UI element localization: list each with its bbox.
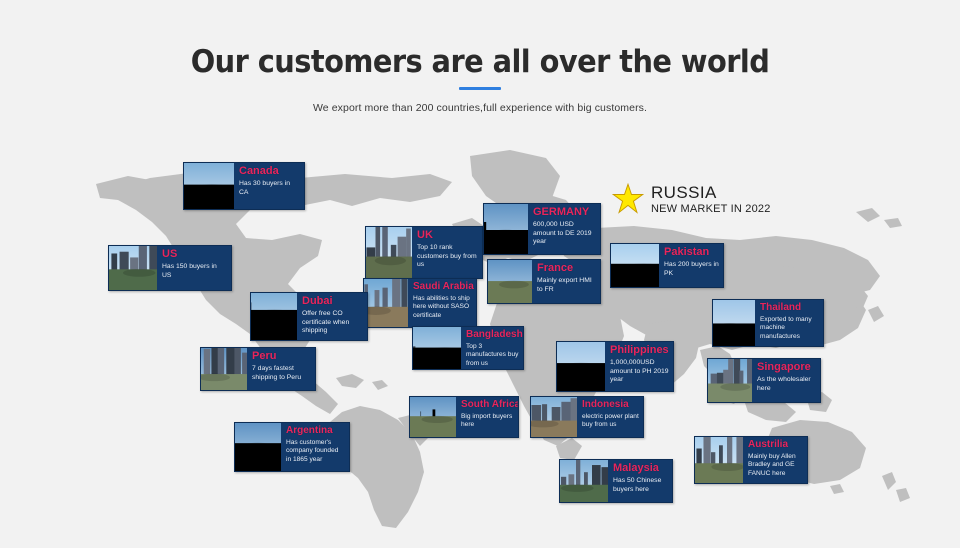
card-description: Big import buyers here: [461, 413, 514, 430]
country-card-germany[interactable]: GERMANY600,000 USD amount to DE 2019 yea…: [483, 203, 601, 255]
card-country-title: UK: [417, 230, 478, 242]
card-body: Indonesiaelectric power plant buy from u…: [577, 397, 643, 437]
south-africa-stadium-photo: [410, 397, 456, 437]
card-description: Mainly buy Allen Bradley and GE FANUC he…: [748, 453, 803, 479]
card-description: Mainly export HMI to FR: [537, 277, 596, 295]
card-body: FranceMainly export HMI to FR: [532, 260, 600, 303]
card-description: Top 3 manufactures buy from us: [466, 343, 519, 369]
title-underline-rule: [459, 87, 501, 90]
card-description: Exported to many machine manufactures: [760, 316, 819, 342]
card-country-title: Thailand: [760, 303, 819, 314]
card-body: Saudi ArabiaHas abilities to ship here w…: [408, 279, 476, 327]
country-card-singapore[interactable]: SingaporeAs the wholesaler here: [707, 358, 821, 403]
card-body: USHas 150 buyers in US: [157, 246, 231, 290]
malaysia-city-photo: [560, 460, 608, 502]
card-description: As the wholesaler here: [757, 376, 816, 394]
card-description: Has customer's company founded in 1865 y…: [286, 439, 345, 465]
card-body: MalaysiaHas 50 Chinese buyers here: [608, 460, 672, 502]
card-country-title: GERMANY: [533, 207, 596, 219]
singapore-merlion-photo: [708, 359, 752, 402]
card-country-title: Canada: [239, 166, 300, 178]
card-body: SingaporeAs the wholesaler here: [752, 359, 820, 402]
card-country-title: Singapore: [757, 362, 816, 374]
country-card-uk[interactable]: UKTop 10 rank customers buy from us: [365, 226, 483, 279]
philippines-skyline-photo: [557, 342, 605, 391]
peru-machu-picchu-photo: [201, 348, 247, 390]
australia-opera-house-photo: [695, 437, 743, 483]
card-body: UKTop 10 rank customers buy from us: [412, 227, 482, 278]
card-country-title: Philippines: [610, 345, 669, 357]
yellow-star-icon: [612, 183, 644, 215]
card-body: CanadaHas 30 buyers in CA: [234, 163, 304, 209]
country-card-south-africa[interactable]: South AfricaBig import buyers here: [409, 396, 519, 438]
germany-reichstag-photo: [484, 204, 528, 254]
thailand-temple-photo: [713, 300, 755, 346]
card-description: 7 days fastest shipping to Peru: [252, 365, 311, 383]
pakistan-city-photo: [611, 244, 659, 287]
argentina-congress-photo: [235, 423, 281, 471]
page-title: Our customers are all over the world: [34, 44, 927, 80]
uk-bigben-photo: [366, 227, 412, 278]
card-description: Has 200 buyers in PK: [664, 261, 719, 279]
card-country-title: Pakistan: [664, 247, 719, 259]
us-flags-photo: [109, 246, 157, 290]
russia-label: RUSSIA: [651, 183, 771, 202]
country-card-canada[interactable]: CanadaHas 30 buyers in CA: [183, 162, 305, 210]
country-card-philippines[interactable]: Philippines1,000,000USD amount to PH 201…: [556, 341, 674, 392]
country-card-argentina[interactable]: ArgentinaHas customer's company founded …: [234, 422, 350, 472]
canada-flag-photo: [184, 163, 234, 209]
card-description: electric power plant buy from us: [582, 413, 639, 430]
card-country-title: South Africa: [461, 400, 514, 411]
card-body: GERMANY600,000 USD amount to DE 2019 yea…: [528, 204, 600, 254]
card-description: Top 10 rank customers buy from us: [417, 244, 478, 271]
france-flag-tower-photo: [488, 260, 532, 303]
header: Our customers are all over the world We …: [0, 0, 960, 114]
indonesia-prambanan-photo: [531, 397, 577, 437]
bangladesh-temple-photo: [413, 327, 461, 369]
country-card-thailand[interactable]: ThailandExported to many machine manufac…: [712, 299, 824, 347]
card-country-title: Indonesia: [582, 400, 639, 411]
card-country-title: Dubai: [302, 296, 363, 308]
russia-new-market-banner: RUSSIA NEW MARKET IN 2022: [612, 183, 771, 215]
card-description: 1,000,000USD amount to PH 2019 year: [610, 359, 669, 386]
card-country-title: Bangladesh: [466, 330, 519, 341]
dubai-burj-al-arab-photo: [251, 293, 297, 340]
card-body: Peru7 days fastest shipping to Peru: [247, 348, 315, 390]
country-card-bangladesh[interactable]: BangladeshTop 3 manufactures buy from us: [412, 326, 524, 370]
country-card-indonesia[interactable]: Indonesiaelectric power plant buy from u…: [530, 396, 644, 438]
country-card-pakistan[interactable]: PakistanHas 200 buyers in PK: [610, 243, 724, 288]
card-country-title: France: [537, 263, 596, 275]
country-card-us[interactable]: USHas 150 buyers in US: [108, 245, 232, 291]
country-card-malaysia[interactable]: MalaysiaHas 50 Chinese buyers here: [559, 459, 673, 503]
card-description: Has abilities to ship here without SASO …: [413, 295, 472, 321]
card-country-title: Saudi Arabia: [413, 282, 472, 293]
card-body: AustriliaMainly buy Allen Bradley and GE…: [743, 437, 807, 483]
country-card-austrilia[interactable]: AustriliaMainly buy Allen Bradley and GE…: [694, 436, 808, 484]
card-body: South AfricaBig import buyers here: [456, 397, 518, 437]
page-subtitle: We export more than 200 countries,full e…: [0, 102, 960, 114]
russia-banner-text: RUSSIA NEW MARKET IN 2022: [651, 183, 771, 215]
card-country-title: Peru: [252, 351, 311, 363]
card-country-title: Malaysia: [613, 463, 668, 475]
card-body: BangladeshTop 3 manufactures buy from us: [461, 327, 523, 369]
russia-subtitle: NEW MARKET IN 2022: [651, 203, 771, 215]
card-body: ArgentinaHas customer's company founded …: [281, 423, 349, 471]
card-description: Has 150 buyers in US: [162, 263, 227, 281]
world-customers-infographic: Our customers are all over the world We …: [0, 0, 960, 548]
country-card-france[interactable]: FranceMainly export HMI to FR: [487, 259, 601, 304]
card-body: Philippines1,000,000USD amount to PH 201…: [605, 342, 673, 391]
card-description: Has 50 Chinese buyers here: [613, 477, 668, 495]
card-body: PakistanHas 200 buyers in PK: [659, 244, 723, 287]
country-card-dubai[interactable]: DubaiOffer free CO certificate when ship…: [250, 292, 368, 341]
country-card-peru[interactable]: Peru7 days fastest shipping to Peru: [200, 347, 316, 391]
card-body: ThailandExported to many machine manufac…: [755, 300, 823, 346]
card-body: DubaiOffer free CO certificate when ship…: [297, 293, 367, 340]
card-country-title: Argentina: [286, 426, 345, 437]
card-description: Has 30 buyers in CA: [239, 180, 300, 198]
saudi-tower-photo: [364, 279, 408, 327]
card-country-title: Austrilia: [748, 440, 803, 451]
card-country-title: US: [162, 249, 227, 261]
card-description: Offer free CO certificate when shipping: [302, 310, 363, 337]
country-card-saudi-arabia[interactable]: Saudi ArabiaHas abilities to ship here w…: [363, 278, 477, 328]
card-description: 600,000 USD amount to DE 2019 year: [533, 221, 596, 248]
